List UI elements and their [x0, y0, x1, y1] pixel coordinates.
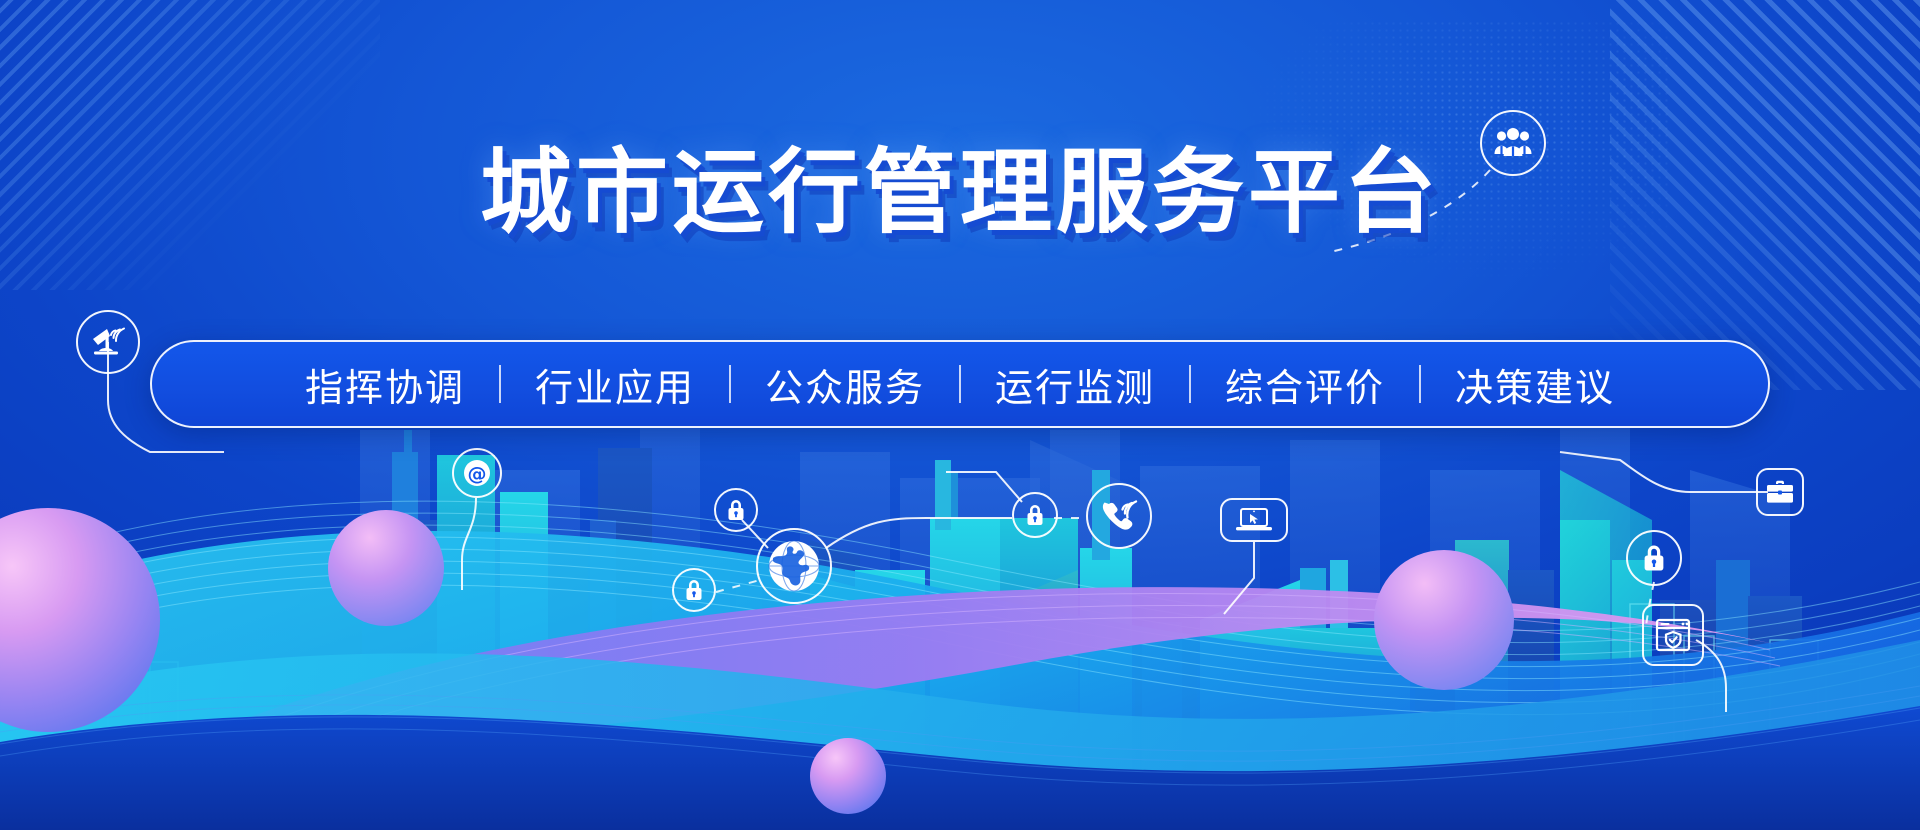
svg-text:@: @	[468, 463, 487, 485]
page-title-text: 城市运行管理服务平台	[480, 144, 1440, 242]
page-title: 城市运行管理服务平台	[0, 144, 1920, 242]
lock-icon-right[interactable]	[1626, 530, 1682, 586]
at-sign-icon[interactable]: @	[452, 448, 502, 498]
laptop-cursor-icon[interactable]	[1220, 498, 1288, 542]
nav-item-comprehensive-evaluation[interactable]: 综合评价	[1191, 357, 1419, 412]
globe-icon[interactable]	[756, 528, 832, 604]
nav-item-public-service[interactable]: 公众服务	[731, 357, 959, 412]
lock-icon-upper[interactable]	[714, 488, 758, 532]
browser-shield-icon[interactable]	[1642, 604, 1704, 666]
nav-item-operation-monitoring[interactable]: 运行监测	[961, 357, 1189, 412]
banner-root: 城市运行管理服务平台 指挥协调 行业应用 公众服务 运行监测 综合评价 决策建议	[0, 0, 1920, 830]
lock-icon-lower[interactable]	[672, 568, 716, 612]
nav-item-industry-application[interactable]: 行业应用	[501, 357, 729, 412]
nav-item-decision-suggestion[interactable]: 决策建议	[1421, 357, 1649, 412]
nav-item-command-coordination[interactable]: 指挥协调	[271, 357, 499, 412]
satellite-dish-icon[interactable]	[76, 310, 140, 374]
phone-signal-icon[interactable]	[1086, 483, 1152, 549]
briefcase-icon[interactable]	[1756, 468, 1804, 516]
lock-icon-center[interactable]	[1012, 492, 1058, 538]
nav-pill: 指挥协调 行业应用 公众服务 运行监测 综合评价 决策建议	[150, 340, 1770, 428]
